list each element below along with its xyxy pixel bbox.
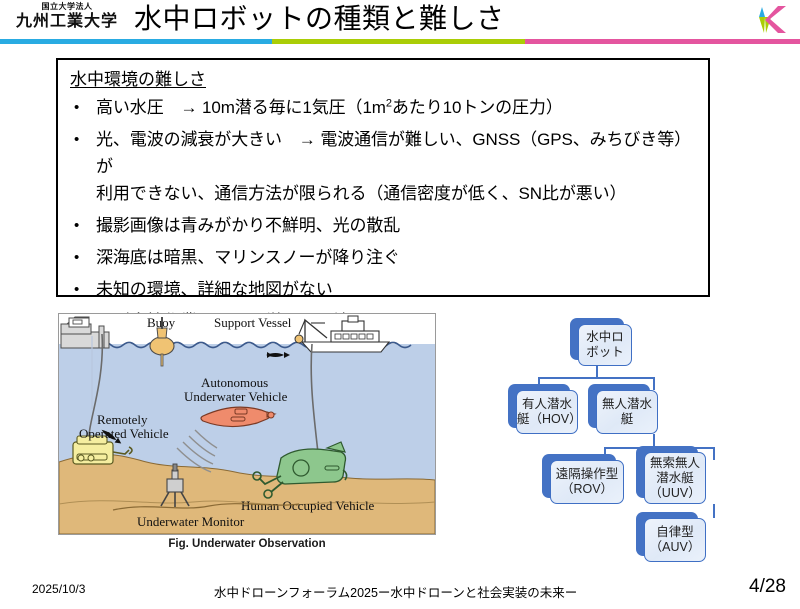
bullet-list: • 高い水圧 → 10m潜る毎に1気圧（1m2あたり10トンの圧力） • 光、電… xyxy=(70,94,698,335)
textbox-heading: 水中環境の難しさ xyxy=(70,68,698,92)
label-hov: Human Occupied Vehicle xyxy=(241,498,375,513)
flow-node-hov[interactable]: 有人潜水 艇（HOV） xyxy=(516,390,578,434)
flow-connector-root-down xyxy=(596,364,598,378)
rule-segment-pink xyxy=(525,39,800,44)
kyutech-k-icon xyxy=(744,3,788,37)
list-item: • 光、電波の減衰が大きい → 電波通信が難しい、GNSS（GPS、みちびき等）… xyxy=(70,126,698,207)
robot-taxonomy-flowchart: 水中ロ ボット 有人潜水 艇（HOV） 無人潜水 艇 遠隔操作型 （ROV） xyxy=(508,316,796,564)
underwater-figure: Buoy Support Ve xyxy=(58,313,436,558)
list-item: • 深海底は暗黒、マリンスノーが降り注ぐ xyxy=(70,244,698,271)
footer-page-number: 4/28 xyxy=(749,576,786,598)
flow-node-unmanned-submersible[interactable]: 無人潜水 艇 xyxy=(596,390,658,434)
bullet-text: 光、電波の減衰が大きい → 電波通信が難しい、GNSS（GPS、みちびき等）が … xyxy=(96,126,698,207)
flow-node-line2: 艇（HOV） xyxy=(517,412,577,427)
slide-header: 国立大学法人 九州工業大学 水中ロボットの種類と難しさ xyxy=(0,0,800,48)
bullet-text-part1: 高い水圧 → 10m潜る毎に1気圧（1m xyxy=(96,98,386,117)
bullet-marker: • xyxy=(70,276,96,303)
rule-segment-cyan xyxy=(0,39,272,44)
page-title: 水中ロボットの種類と難しさ xyxy=(134,1,505,37)
underwater-scene-illustration: Buoy Support Ve xyxy=(59,314,435,534)
flow-node-line3: （UUV） xyxy=(649,486,700,501)
flow-connector-to-uuv xyxy=(713,447,715,460)
label-buoy: Buoy xyxy=(147,315,176,330)
label-auv-line1: Autonomous xyxy=(201,375,268,390)
label-auv-line2: Underwater Vehicle xyxy=(184,389,288,404)
flow-node-underwater-robot[interactable]: 水中ロ ボット xyxy=(578,324,632,366)
bullet-text-line1: 光、電波の減衰が大きい → 電波通信が難しい、GNSS（GPS、みちびき等）が xyxy=(96,126,698,180)
bullet-text: 深海底は暗黒、マリンスノーが降り注ぐ xyxy=(96,244,400,271)
bullet-text-line2: 利用できない、通信方法が限られる（通信密度が低く、SN比が悪い） xyxy=(96,180,698,207)
flow-node-line1: 無人潜水 xyxy=(602,397,652,412)
flow-node-line1: 自律型 xyxy=(650,525,701,540)
rule-segment-green xyxy=(272,39,525,44)
flow-node-line1: 有人潜水 xyxy=(517,397,577,412)
slide-root: 国立大学法人 九州工業大学 水中ロボットの種類と難しさ 水中環境の難しさ • 高… xyxy=(0,0,800,609)
flow-node-line2: （AUV） xyxy=(650,540,701,555)
label-rov-line2: Operated Vehicle xyxy=(79,426,169,441)
label-rov-line1: Remotely xyxy=(97,412,148,427)
bullet-marker: • xyxy=(70,244,96,271)
label-underwater-monitor: Underwater Monitor xyxy=(137,514,245,529)
flow-node-line2: 艇 xyxy=(602,412,652,427)
flow-node-line2: 潜水艇 xyxy=(649,471,700,486)
flow-node-line1: 遠隔操作型 xyxy=(556,467,619,482)
footer-date: 2025/10/3 xyxy=(32,582,85,596)
slide-footer: 2025/10/3 水中ドローンフォーラム2025ー水中ドローンと社会実装の未来… xyxy=(0,576,800,609)
figure-caption: Fig. Underwater Observation xyxy=(58,538,436,550)
university-logo-name: 九州工業大学 xyxy=(8,12,126,32)
flow-node-line1: 水中ロ xyxy=(586,330,624,345)
bullet-marker: • xyxy=(70,126,96,153)
bullet-text: 高い水圧 → 10m潜る毎に1気圧（1m2あたり10トンの圧力） xyxy=(96,94,563,121)
university-logo: 国立大学法人 九州工業大学 xyxy=(8,2,126,32)
list-item: • 撮影画像は青みがかり不鮮明、光の散乱 xyxy=(70,212,698,239)
content-textbox: 水中環境の難しさ • 高い水圧 → 10m潜る毎に1気圧（1m2あたり10トンの… xyxy=(56,58,710,297)
bullet-marker: • xyxy=(70,212,96,239)
bullet-text: 未知の環境、詳細な地図がない xyxy=(96,276,333,303)
university-logo-prefix: 国立大学法人 xyxy=(8,2,126,12)
flow-connector-to-auv xyxy=(713,504,715,518)
figure-frame: Buoy Support Ve xyxy=(58,313,436,535)
flow-connector-level1-bar xyxy=(538,377,654,379)
flow-node-line1: 無索無人 xyxy=(649,456,700,471)
flow-node-rov[interactable]: 遠隔操作型 （ROV） xyxy=(550,460,624,504)
flow-node-line2: （ROV） xyxy=(556,482,619,497)
list-item: • 未知の環境、詳細な地図がない xyxy=(70,276,698,303)
flow-node-line2: ボット xyxy=(586,345,624,360)
bullet-marker: • xyxy=(70,94,96,121)
flow-connector-to-uv xyxy=(653,377,655,390)
hov-viewport xyxy=(293,460,309,476)
header-color-rule xyxy=(0,39,800,44)
flow-node-uuv[interactable]: 無索無人 潜水艇 （UUV） xyxy=(644,452,706,504)
footer-subject: 水中ドローンフォーラム2025ー水中ドローンと社会実装の未来ー xyxy=(214,582,577,601)
bullet-text-part2: あたり10トンの圧力） xyxy=(392,98,563,117)
list-item: • 高い水圧 → 10m潜る毎に1気圧（1m2あたり10トンの圧力） xyxy=(70,94,698,121)
bullet-text: 撮影画像は青みがかり不鮮明、光の散乱 xyxy=(96,212,400,239)
flow-node-auv[interactable]: 自律型 （AUV） xyxy=(644,518,706,562)
label-support-vessel: Support Vessel xyxy=(214,315,292,330)
